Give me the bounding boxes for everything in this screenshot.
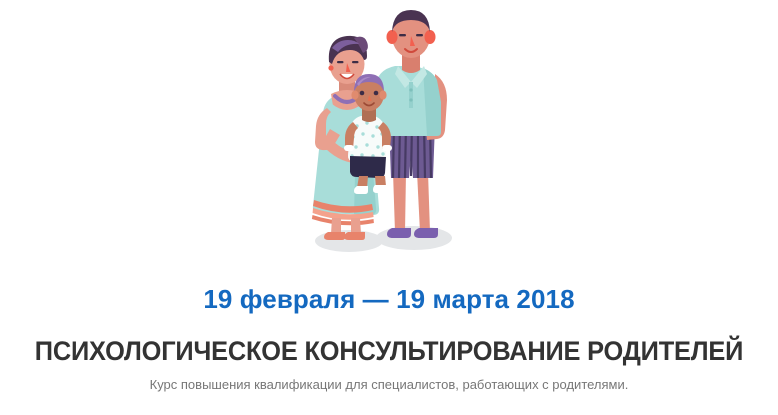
landing-page: 19 февраля — 19 марта 2018 Психологическ… xyxy=(0,0,778,415)
family-illustration xyxy=(0,4,778,264)
page-title: Психологическое консультирование родител… xyxy=(23,336,754,367)
course-date-range: 19 февраля — 19 марта 2018 xyxy=(0,285,778,314)
course-subtitle: Курс повышения квалификации для специали… xyxy=(0,377,778,394)
hero-text-block: 19 февраля — 19 марта 2018 Психологическ… xyxy=(0,285,778,394)
